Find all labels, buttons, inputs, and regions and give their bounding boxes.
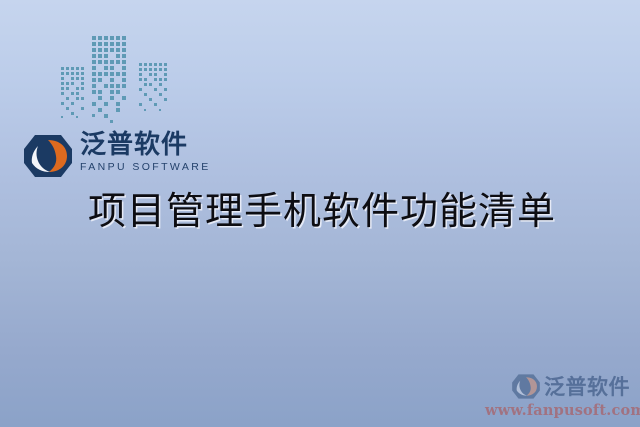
slide-canvas: 泛普软件 FANPU SOFTWARE 项目管理手机软件功能清单 泛普软件 ww…	[0, 0, 640, 427]
brand-name-en: FANPU SOFTWARE	[80, 161, 211, 173]
fanpu-hexagon-swoosh-icon	[511, 373, 541, 400]
watermark-url: www.fanpusoft.com	[485, 402, 630, 419]
brand-logo: 泛普软件 FANPU SOFTWARE	[22, 132, 202, 184]
watermark-logo-row: 泛普软件	[485, 371, 630, 401]
fanpu-hexagon-swoosh-icon	[22, 133, 74, 179]
watermark: 泛普软件 www.fanpusoft.com	[485, 371, 630, 419]
page-title: 项目管理手机软件功能清单	[88, 190, 556, 234]
pixel-city-skyline-icon	[58, 26, 174, 130]
watermark-name-cn: 泛普软件	[544, 371, 630, 401]
brand-name-cn: 泛普软件	[80, 132, 211, 159]
